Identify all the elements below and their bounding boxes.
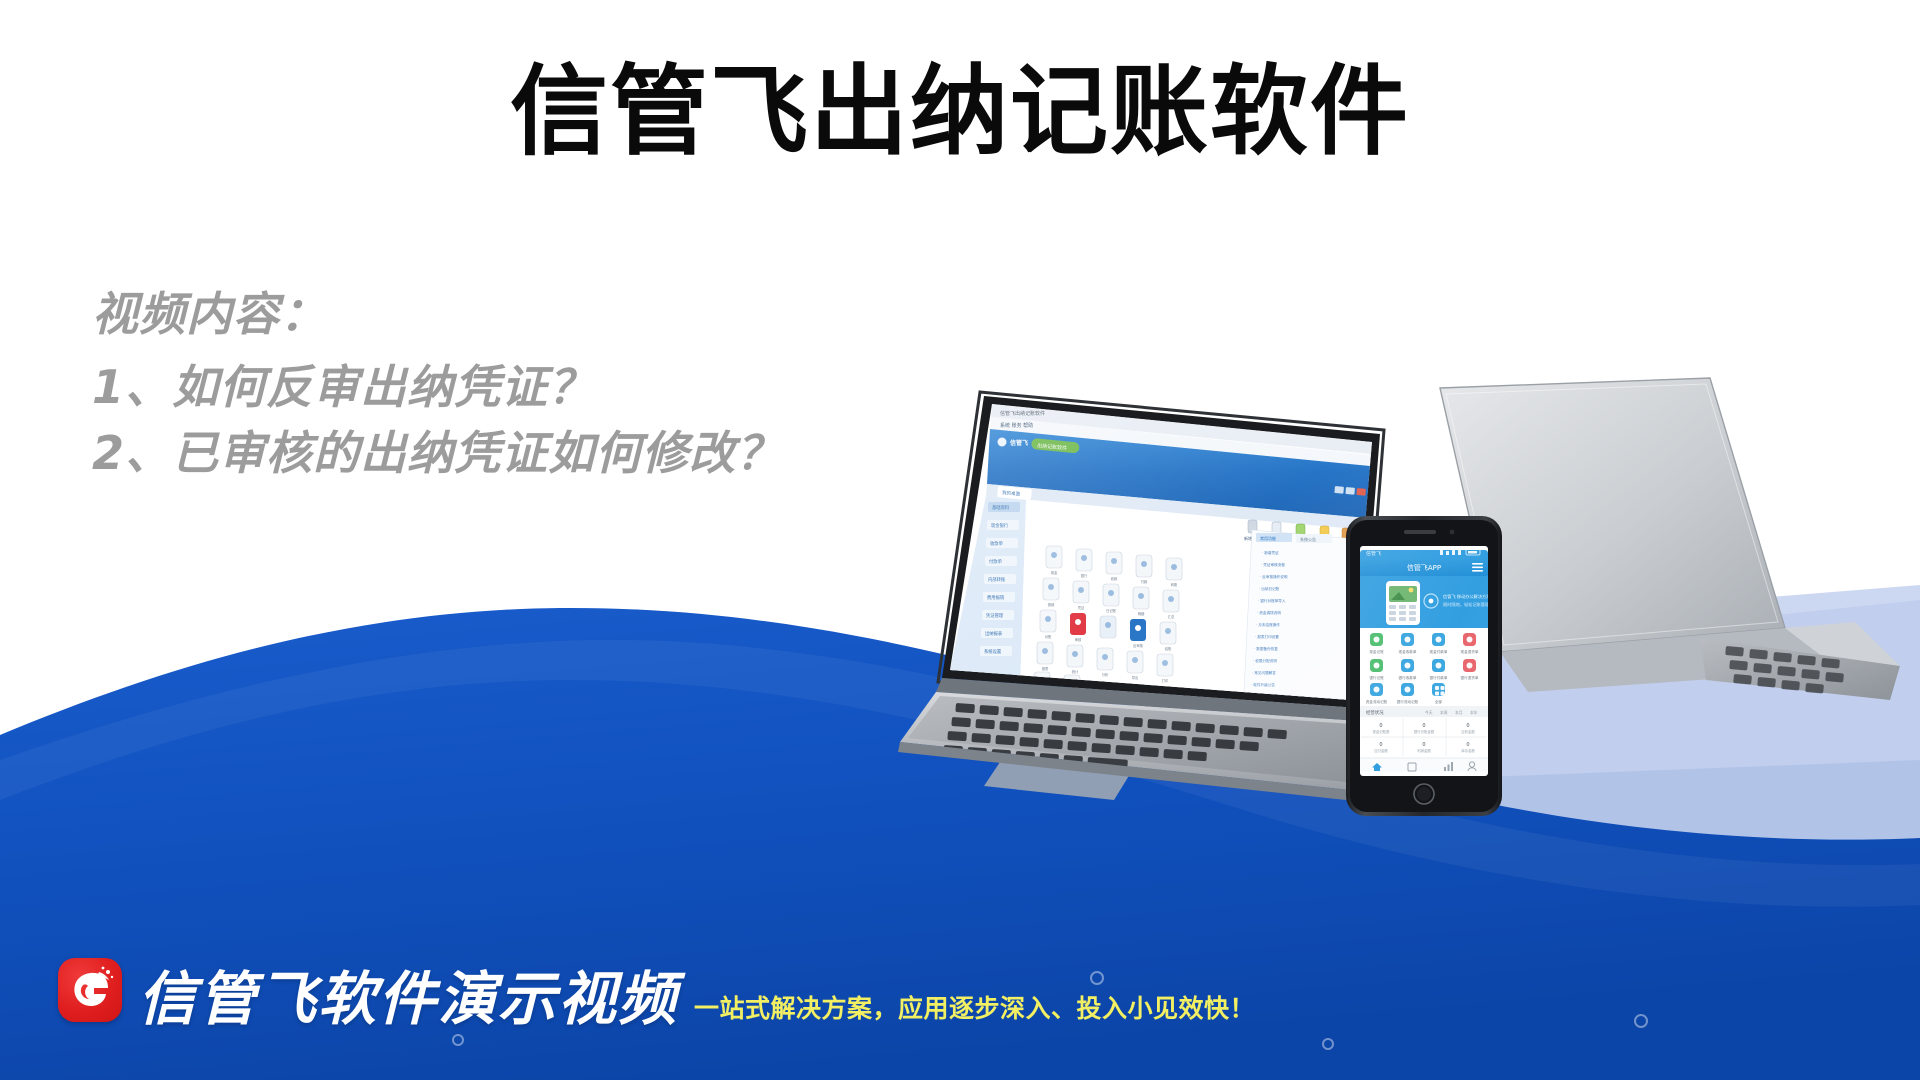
laptop-back	[1440, 378, 1900, 700]
page-title: 信管飞出纳记账软件	[0, 58, 1920, 168]
slide-root: 信管飞出纳记账软件 视频内容： 1、如何反审出纳凭证？ 2、已审核的出纳凭证如何…	[0, 0, 1920, 1080]
device-showcase: 信管飞出纳记账软件 系统 账务 帮助 信管飞 出纳记账软件	[880, 370, 1920, 930]
smartphone: 信管飞 信管飞APP	[1346, 516, 1502, 816]
xinguanfei-logo-icon	[58, 958, 122, 1022]
footer-brand-bar: 信管飞软件演示视频 一站式解决方案，应用逐步深入、投入小见效快！	[58, 958, 1255, 1028]
content-lead: 视频内容：	[92, 282, 783, 347]
footer-tagline: 一站式解决方案，应用逐步深入、投入小见效快！	[694, 996, 1255, 1028]
content-item-1: 1、如何反审出纳凭证？	[92, 355, 783, 420]
footer-brand-text: 信管飞软件演示视频	[138, 970, 678, 1028]
laptop-front: 信管飞出纳记账软件 系统 账务 帮助 信管飞 出纳记账软件	[898, 392, 1384, 800]
video-content-block: 视频内容： 1、如何反审出纳凭证？ 2、已审核的出纳凭证如何修改？	[92, 282, 783, 486]
content-item-2: 2、已审核的出纳凭证如何修改？	[92, 421, 783, 486]
